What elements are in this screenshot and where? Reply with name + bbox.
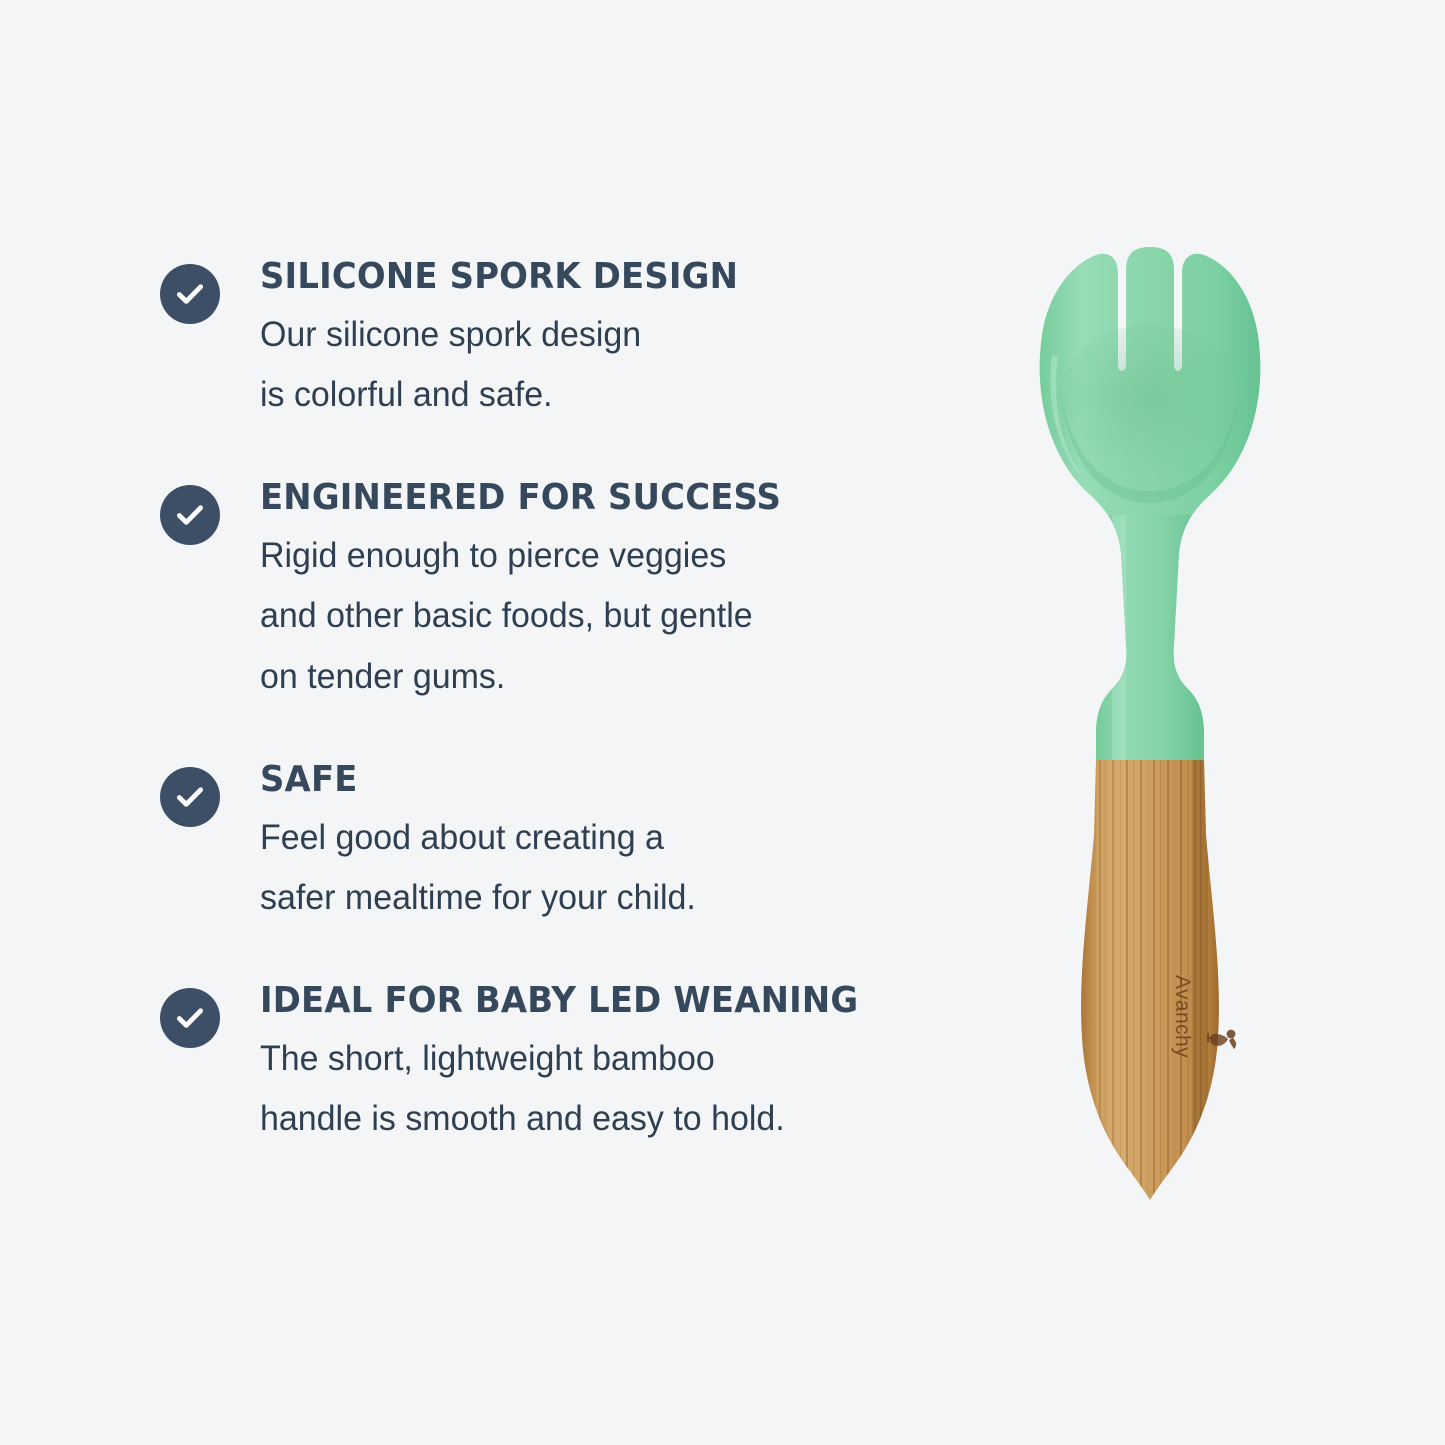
feature-description: Feel good about creating a safer mealtim… (260, 808, 968, 928)
feature-title: SILICONE SPORK DESIGN (260, 258, 946, 297)
feature-item: ENGINEERED FOR SUCCESS Rigid enough to p… (160, 479, 990, 706)
infographic-canvas: SILICONE SPORK DESIGN Our silicone spork… (0, 0, 1445, 1445)
feature-description-line: Rigid enough to pierce veggies (260, 526, 968, 586)
feature-item: SILICONE SPORK DESIGN Our silicone spork… (160, 258, 990, 425)
feature-description-line: is colorful and safe. (260, 365, 968, 425)
feature-description-line: and other basic foods, but gentle (260, 586, 968, 646)
check-circle-icon (160, 264, 220, 324)
feature-title: ENGINEERED FOR SUCCESS (260, 479, 946, 518)
feature-description-line: on tender gums. (260, 647, 968, 707)
check-circle-icon (160, 485, 220, 545)
feature-title: SAFE (260, 761, 946, 800)
spork-bamboo-handle (1081, 755, 1219, 1215)
product-image-spork (1000, 215, 1300, 1215)
check-circle-icon (160, 988, 220, 1048)
feature-description-line: handle is smooth and easy to hold. (260, 1089, 968, 1149)
feature-description-line: safer mealtime for your child. (260, 868, 968, 928)
feature-description-line: The short, lightweight bamboo (260, 1029, 968, 1089)
feature-title: IDEAL FOR BABY LED WEANING (260, 982, 946, 1021)
feature-list: SILICONE SPORK DESIGN Our silicone spork… (160, 258, 990, 1149)
feature-description: Our silicone spork design is colorful an… (260, 305, 968, 425)
feature-description-line: Feel good about creating a (260, 808, 968, 868)
spork-silicone-head (1040, 247, 1261, 765)
check-circle-icon (160, 767, 220, 827)
feature-description-line: Our silicone spork design (260, 305, 968, 365)
feature-item: SAFE Feel good about creating a safer me… (160, 761, 990, 928)
feature-item: IDEAL FOR BABY LED WEANING The short, li… (160, 982, 990, 1149)
feature-description: The short, lightweight bamboo handle is … (260, 1029, 968, 1149)
feature-description: Rigid enough to pierce veggies and other… (260, 526, 968, 707)
